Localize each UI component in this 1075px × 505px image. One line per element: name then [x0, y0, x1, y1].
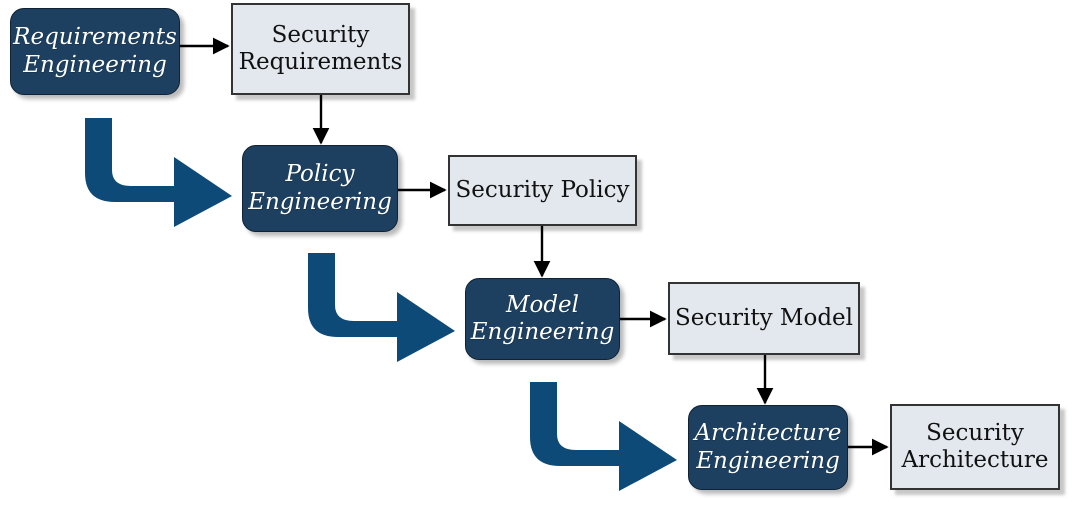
node-security-policy[interactable]: Security Policy: [448, 155, 637, 226]
node-requirements-engineering[interactable]: Requirements Engineering: [10, 8, 180, 95]
node-security-model-label: Security Model: [675, 305, 853, 332]
flow-arrow-policy-to-model: [308, 253, 455, 362]
node-policy-engineering[interactable]: Policy Engineering: [242, 145, 398, 232]
node-requirements-engineering-label: Requirements Engineering: [13, 24, 177, 78]
flow-arrow-requirements-to-policy: [85, 118, 232, 227]
node-security-requirements-label: Security Requirements: [239, 22, 403, 76]
node-model-engineering-label: Model Engineering: [471, 292, 615, 346]
node-security-architecture-label: Security Architecture: [901, 420, 1048, 474]
node-security-model[interactable]: Security Model: [668, 282, 860, 355]
node-model-engineering[interactable]: Model Engineering: [465, 278, 620, 360]
security-engineering-diagram: Requirements Engineering Security Requir…: [0, 0, 1075, 505]
node-architecture-engineering[interactable]: Architecture Engineering: [688, 405, 848, 490]
node-security-architecture[interactable]: Security Architecture: [890, 404, 1060, 490]
flow-arrow-model-to-architecture: [530, 382, 677, 491]
node-architecture-engineering-label: Architecture Engineering: [694, 420, 841, 474]
node-security-policy-label: Security Policy: [456, 177, 630, 204]
node-security-requirements[interactable]: Security Requirements: [231, 3, 410, 95]
node-policy-engineering-label: Policy Engineering: [248, 161, 392, 215]
